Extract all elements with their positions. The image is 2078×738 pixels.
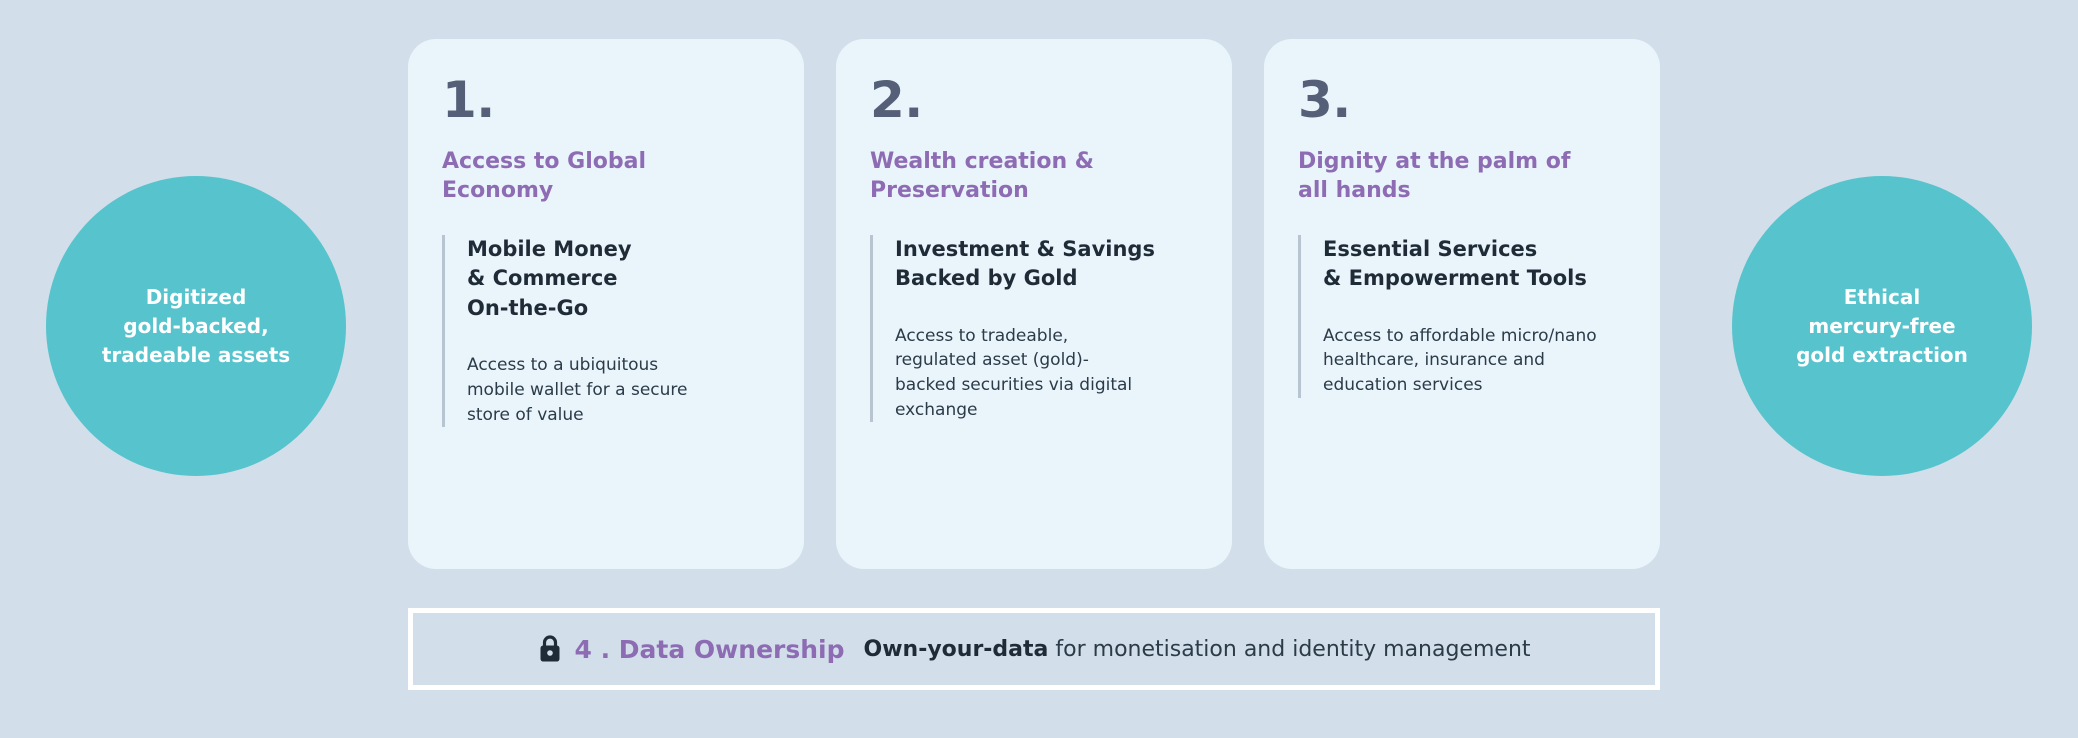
card-heading: Dignity at the palm of all hands (1298, 147, 1626, 205)
card-detail-body: Access to tradeable, regulated asset (go… (895, 324, 1198, 423)
pillar-card-1[interactable]: 1. Access to Global Economy Mobile Money… (408, 39, 804, 569)
pillar-card-3[interactable]: 3. Dignity at the palm of all hands Esse… (1264, 39, 1660, 569)
bar-number-label: 4 . Data Ownership (574, 635, 844, 664)
bar-bold-text: Own-your-data (864, 637, 1049, 662)
card-number: 3. (1298, 75, 1626, 125)
left-circle-label: Digitized gold-backed, tradeable assets (84, 283, 308, 370)
card-detail-block: Mobile Money & Commerce On-the-Go Access… (442, 235, 770, 427)
card-detail-body: Access to a ubiquitous mobile wallet for… (467, 353, 770, 427)
data-ownership-bar[interactable]: 4 . Data Ownership Own-your-data for mon… (408, 608, 1660, 690)
card-number: 1. (442, 75, 770, 125)
card-heading: Wealth creation & Preservation (870, 147, 1198, 205)
pillar-card-2[interactable]: 2. Wealth creation & Preservation Invest… (836, 39, 1232, 569)
pillar-cards-row: 1. Access to Global Economy Mobile Money… (408, 39, 1660, 569)
card-number: 2. (870, 75, 1198, 125)
card-detail-title: Mobile Money & Commerce On-the-Go (467, 235, 770, 323)
lock-icon (537, 634, 563, 664)
card-detail-title: Essential Services & Empowerment Tools (1323, 235, 1626, 294)
card-heading: Access to Global Economy (442, 147, 770, 205)
right-circle-badge: Ethical mercury-free gold extraction (1732, 176, 2032, 476)
left-circle-badge: Digitized gold-backed, tradeable assets (46, 176, 346, 476)
right-circle-label: Ethical mercury-free gold extraction (1778, 283, 1986, 370)
card-detail-block: Investment & Savings Backed by Gold Acce… (870, 235, 1198, 422)
card-detail-title: Investment & Savings Backed by Gold (895, 235, 1198, 294)
bar-rest-text: for monetisation and identity management (1055, 637, 1530, 662)
card-detail-body: Access to affordable micro/nano healthca… (1323, 324, 1626, 398)
card-detail-block: Essential Services & Empowerment Tools A… (1298, 235, 1626, 398)
